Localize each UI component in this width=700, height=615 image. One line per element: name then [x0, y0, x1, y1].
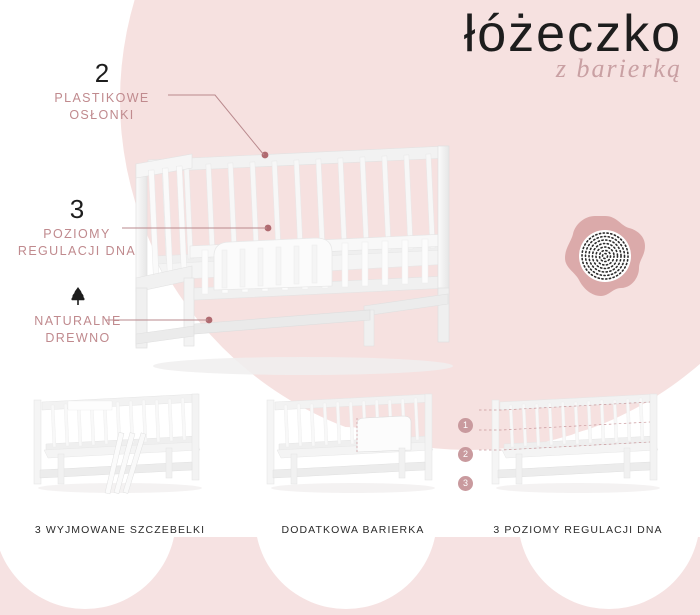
- thumbnail-caption: 3 POZIOMY REGULACJI DNA: [478, 524, 678, 536]
- main-crib-image: [118, 138, 468, 388]
- annotation-number: 2: [22, 60, 182, 86]
- thumbnail-extra-barrier[interactable]: DODATKOWA BARIERKA: [253, 388, 453, 536]
- thumbnail-caption: DODATKOWA BARIERKA: [253, 524, 453, 536]
- callout-dot-2: [265, 225, 272, 232]
- callout-dot-1: [262, 152, 269, 159]
- thumbnail-image: [253, 388, 453, 498]
- thumbnail-row: 3 WYJMOWANE SZCZEBELKI: [0, 388, 700, 558]
- annotation-natural-wood: NATURALNE DREWNO: [8, 286, 148, 347]
- annotation-mattress-levels: 3 POZIOMY REGULACJI DNA: [2, 196, 152, 260]
- level-badge-1: 1: [458, 418, 473, 433]
- rosette-icon: [561, 212, 649, 300]
- thumbnail-image: 1 2 3: [478, 388, 678, 498]
- level-badge-2: 2: [458, 447, 473, 462]
- tree-icon: [8, 286, 148, 310]
- level-badge-3: 3: [458, 476, 473, 491]
- level-badge-column: 1 2 3: [458, 418, 473, 505]
- annotation-label: NATURALNE DREWNO: [8, 313, 148, 347]
- page-title: łóżeczko: [464, 8, 682, 60]
- annotation-label: POZIOMY REGULACJI DNA: [2, 226, 152, 260]
- thumbnail-three-levels[interactable]: 1 2 3: [478, 388, 678, 536]
- annotation-plastic-covers: 2 PLASTIKOWE OSŁONKI: [22, 60, 182, 124]
- annotation-label: PLASTIKOWE OSŁONKI: [22, 90, 182, 124]
- crib-illustration: [118, 138, 468, 388]
- thumbnail-image: [20, 388, 220, 498]
- thumbnail-removable-slats[interactable]: 3 WYJMOWANE SZCZEBELKI: [20, 388, 220, 536]
- infographic-canvas: łóżeczko z barierką: [0, 0, 700, 615]
- callout-dot-3: [206, 317, 213, 324]
- rosette-badge: [561, 212, 649, 300]
- title-block: łóżeczko z barierką: [464, 8, 682, 82]
- annotation-number: 3: [2, 196, 152, 222]
- thumbnail-caption: 3 WYJMOWANE SZCZEBELKI: [20, 524, 220, 536]
